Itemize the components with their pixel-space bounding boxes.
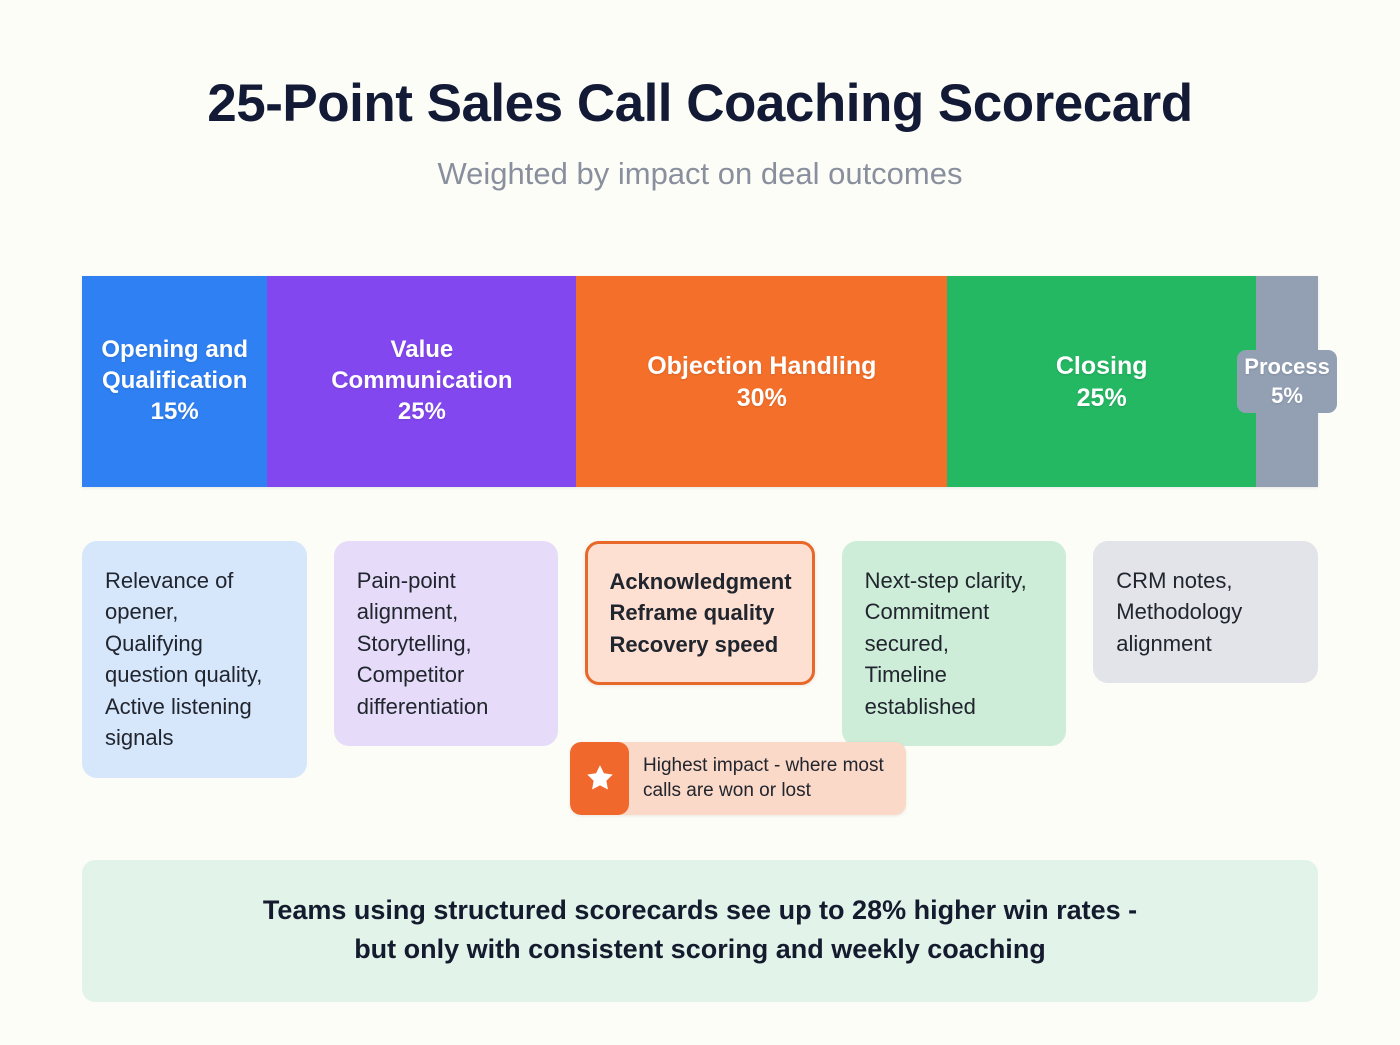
page-title: 25-Point Sales Call Coaching Scorecard — [0, 0, 1400, 133]
detail-card-line: question quality, — [105, 659, 285, 690]
detail-card-line: CRM notes, — [1116, 565, 1296, 596]
detail-card-line: alignment, — [357, 596, 537, 627]
bar-segment-opening-and-qualification[interactable]: Opening and Qualification 15% — [82, 276, 267, 487]
bar-segment-label: Process 5% — [1237, 350, 1337, 412]
detail-card-process[interactable]: CRM notes, Methodology alignment — [1093, 541, 1318, 683]
detail-card-line: alignment — [1116, 628, 1296, 659]
detail-card-opening-and-qualification[interactable]: Relevance of opener, Qualifying question… — [82, 541, 307, 778]
bar-segment-name-line1: Process — [1244, 353, 1330, 381]
bar-segment-percent: 5% — [1244, 382, 1330, 410]
detail-card-line: Pain-point — [357, 565, 537, 596]
detail-card-line: Next-step clarity, — [865, 565, 1045, 596]
detail-card-line: opener, — [105, 596, 285, 627]
detail-card-objection-handling[interactable]: Acknowledgment Reframe quality Recovery … — [585, 541, 814, 685]
bar-segment-label: Objection Handling 30% — [647, 350, 876, 414]
bar-segment-closing[interactable]: Closing 25% — [947, 276, 1256, 487]
summary-banner-line: Teams using structured scorecards see up… — [122, 891, 1278, 930]
scorecard-infographic: 25-Point Sales Call Coaching Scorecard W… — [0, 0, 1400, 1045]
bar-segment-name-line2: Qualification — [101, 366, 248, 397]
callout-text: Highest impact - where most calls are wo… — [629, 742, 906, 815]
bar-segment-value-communication[interactable]: Value Communication 25% — [267, 276, 576, 487]
detail-card-line: Timeline — [865, 659, 1045, 690]
weight-distribution-bar: Opening and Qualification 15% Value Comm… — [82, 276, 1318, 487]
detail-card-line: Relevance of — [105, 565, 285, 596]
summary-banner-line: but only with consistent scoring and wee… — [122, 930, 1278, 969]
bar-segment-objection-handling[interactable]: Objection Handling 30% — [576, 276, 947, 487]
bar-segment-name-line2: Communication — [331, 366, 512, 397]
detail-card-line: secured, — [865, 628, 1045, 659]
detail-card-line: Competitor — [357, 659, 537, 690]
bar-segment-percent: 25% — [331, 397, 512, 428]
detail-card-value-communication[interactable]: Pain-point alignment, Storytelling, Comp… — [334, 541, 559, 746]
detail-card-line: Acknowledgment — [609, 566, 791, 597]
detail-card-line: differentiation — [357, 691, 537, 722]
detail-card-line: Active listening — [105, 691, 285, 722]
detail-card-line: Storytelling, — [357, 628, 537, 659]
detail-card-line: Methodology — [1116, 596, 1296, 627]
bar-segment-label: Opening and Qualification 15% — [101, 335, 248, 427]
star-icon — [584, 762, 616, 794]
bar-segment-name-line1: Value — [331, 335, 512, 366]
bar-segment-name-line1: Closing — [1056, 350, 1148, 382]
detail-card-line: Qualifying — [105, 628, 285, 659]
callout-badge — [570, 742, 629, 815]
bar-segment-process[interactable]: Process 5% — [1256, 276, 1318, 487]
page-subtitle: Weighted by impact on deal outcomes — [0, 133, 1400, 192]
detail-card-line: established — [865, 691, 1045, 722]
bar-segment-name-line1: Opening and — [101, 335, 248, 366]
bar-segment-percent: 25% — [1056, 382, 1148, 414]
detail-card-line: Commitment — [865, 596, 1045, 627]
detail-card-line: Reframe quality — [609, 597, 791, 628]
detail-card-closing[interactable]: Next-step clarity, Commitment secured, T… — [842, 541, 1067, 746]
detail-card-line: Recovery speed — [609, 629, 791, 660]
detail-card-line: signals — [105, 722, 285, 753]
bar-segment-label: Value Communication 25% — [331, 335, 512, 427]
bar-segment-percent: 30% — [647, 382, 876, 414]
callout-line: Highest impact - where most — [643, 753, 884, 778]
callout-line: calls are won or lost — [643, 778, 884, 803]
highest-impact-callout[interactable]: Highest impact - where most calls are wo… — [570, 742, 906, 815]
summary-banner: Teams using structured scorecards see up… — [82, 860, 1318, 1002]
bar-segment-name-line1: Objection Handling — [647, 350, 876, 382]
header: 25-Point Sales Call Coaching Scorecard W… — [0, 0, 1400, 193]
bar-segment-percent: 15% — [101, 397, 248, 428]
bar-segment-label: Closing 25% — [1056, 350, 1148, 414]
